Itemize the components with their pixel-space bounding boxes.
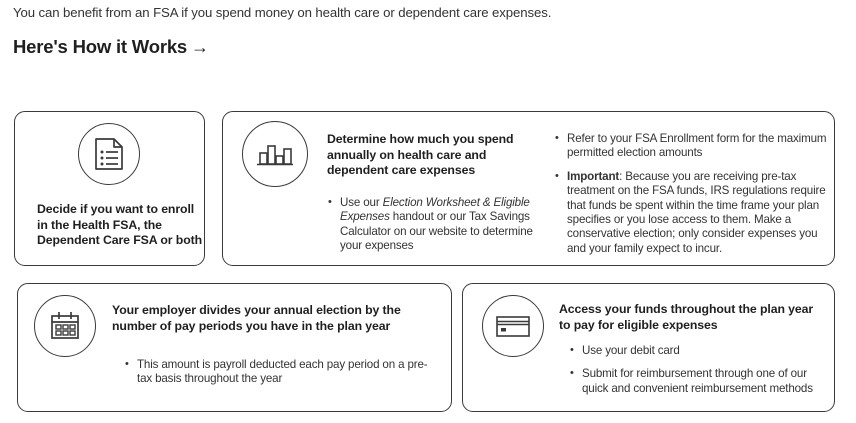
card-side-bullet-list: Refer to your FSA Enrollment form for th… bbox=[554, 132, 829, 256]
bullet-text-part: Submit for reimbursement through one of … bbox=[582, 367, 813, 394]
card-employer-divides: Your employer divides your annual electi… bbox=[17, 283, 452, 412]
card-decide-enroll: Decide if you want to enroll in the Heal… bbox=[14, 111, 205, 266]
document-list-icon bbox=[78, 123, 140, 185]
list-item: Important: Because you are receiving pre… bbox=[554, 170, 829, 256]
card-title: Determine how much you spend annually on… bbox=[327, 132, 537, 179]
intro-paragraph: You can benefit from an FSA if you spend… bbox=[13, 3, 833, 23]
list-item: Submit for reimbursement through one of … bbox=[569, 367, 824, 396]
card-bullet-list: Use our Election Worksheet & Eligible Ex… bbox=[327, 196, 552, 254]
bullet-text-bold: Important bbox=[567, 170, 619, 183]
calendar-icon bbox=[34, 295, 96, 357]
card-bullet-list: Use your debit card Submit for reimburse… bbox=[569, 344, 824, 396]
card-title: Access your funds throughout the plan ye… bbox=[559, 302, 821, 333]
bullet-text-part: Refer to your FSA Enrollment form for th… bbox=[567, 132, 826, 159]
card-determine-spend: Determine how much you spend annually on… bbox=[222, 111, 835, 266]
card-title: Decide if you want to enroll in the Heal… bbox=[37, 202, 205, 249]
bullet-text-part: This amount is payroll deducted each pay… bbox=[137, 358, 428, 385]
bullet-text-part: Use our bbox=[340, 196, 383, 209]
bar-chart-icon bbox=[242, 121, 308, 187]
debit-card-icon bbox=[482, 295, 544, 357]
page-title: Here's How it Works→ bbox=[13, 36, 209, 58]
card-bullet-list: This amount is payroll deducted each pay… bbox=[124, 358, 434, 387]
page-title-label: Here's How it Works bbox=[13, 36, 187, 57]
arrow-right-icon: → bbox=[187, 37, 209, 57]
list-item: Use our Election Worksheet & Eligible Ex… bbox=[327, 196, 552, 254]
list-item: This amount is payroll deducted each pay… bbox=[124, 358, 434, 387]
bullet-text-part: Use your debit card bbox=[582, 344, 680, 357]
card-title: Your employer divides your annual electi… bbox=[112, 303, 432, 334]
fsa-how-it-works-infographic: You can benefit from an FSA if you spend… bbox=[0, 0, 856, 423]
card-access-funds: Access your funds throughout the plan ye… bbox=[462, 283, 835, 412]
list-item: Refer to your FSA Enrollment form for th… bbox=[554, 132, 829, 161]
list-item: Use your debit card bbox=[569, 344, 824, 358]
